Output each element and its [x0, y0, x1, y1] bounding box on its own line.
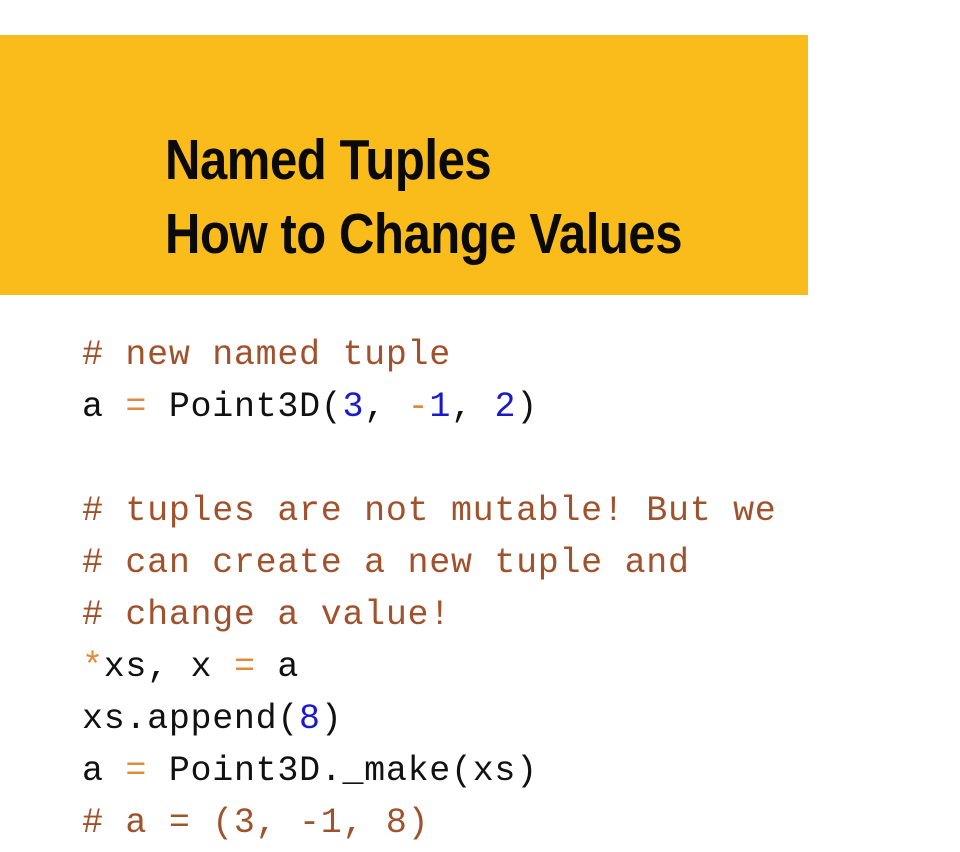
- code-line: xs.append(8): [82, 693, 952, 745]
- title-line-primary: Named Tuples: [165, 123, 682, 197]
- code-token-plain: ,: [364, 387, 407, 427]
- code-line: # tuples are not mutable! But we: [82, 485, 952, 537]
- code-token-number: 1: [429, 387, 451, 427]
- header-banner: Named Tuples How to Change Values: [0, 35, 808, 295]
- code-token-comment: # a = (3, -1, 8): [82, 803, 429, 843]
- code-line: a = Point3D._make(xs): [82, 745, 952, 797]
- code-token-plain: Point3D._make(xs): [147, 751, 538, 791]
- code-token-operator: =: [125, 387, 147, 427]
- code-token-operator: =: [234, 647, 256, 687]
- code-line: # change a value!: [82, 589, 952, 641]
- code-token-number: 8: [299, 699, 321, 739]
- code-line: a = Point3D(3, -1, 2): [82, 381, 952, 433]
- code-token-comment: # new named tuple: [82, 335, 451, 375]
- code-token-plain: a: [256, 647, 299, 687]
- code-token-plain: xs, x: [104, 647, 234, 687]
- title-line-secondary: How to Change Values: [165, 197, 682, 271]
- code-line: # can create a new tuple and: [82, 537, 952, 589]
- code-snippet: # new named tuplea = Point3D(3, -1, 2) #…: [82, 329, 952, 849]
- code-line: # a = (3, -1, 8): [82, 797, 952, 849]
- code-token-comment: # can create a new tuple and: [82, 543, 690, 583]
- code-token-plain: a: [82, 387, 125, 427]
- code-token-operator: =: [125, 751, 147, 791]
- code-token-plain: a: [82, 751, 125, 791]
- code-token-plain: ,: [451, 387, 494, 427]
- code-token-operator: -: [408, 387, 430, 427]
- page-title: Named Tuples How to Change Values: [165, 123, 766, 271]
- code-token-plain: ): [321, 699, 343, 739]
- code-token-number: 2: [494, 387, 516, 427]
- code-token-number: 3: [342, 387, 364, 427]
- code-token-plain: ): [516, 387, 538, 427]
- code-line-blank: [82, 433, 952, 485]
- code-line: # new named tuple: [82, 329, 952, 381]
- code-token-comment: # change a value!: [82, 595, 451, 635]
- code-token-plain: xs.append(: [82, 699, 299, 739]
- code-token-plain: Point3D(: [147, 387, 342, 427]
- code-token-comment: # tuples are not mutable! But we: [82, 491, 777, 531]
- code-line: *xs, x = a: [82, 641, 952, 693]
- code-token-operator: *: [82, 647, 104, 687]
